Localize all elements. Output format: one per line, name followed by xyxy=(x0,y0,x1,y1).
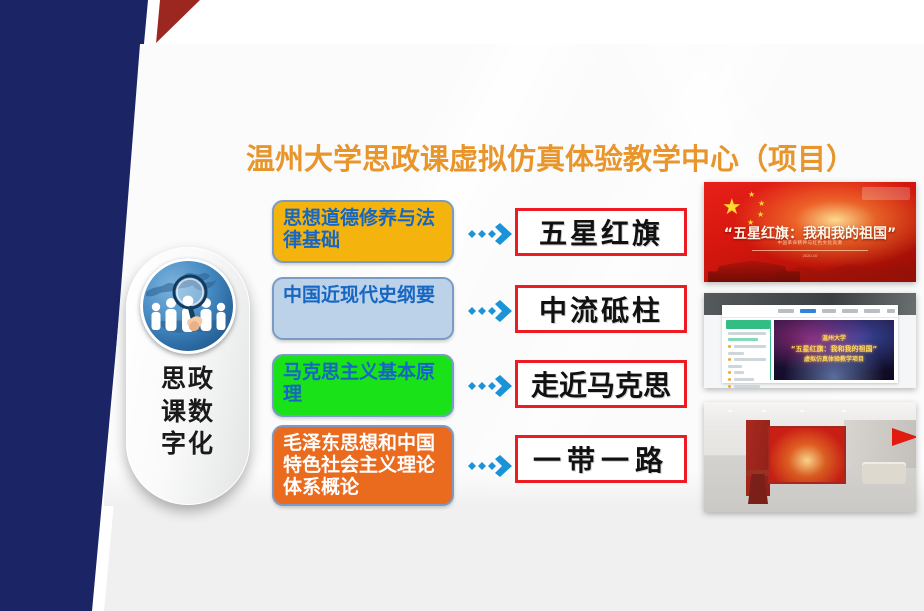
screenshot-nav-item-2 xyxy=(800,309,816,313)
flag-star-big-icon: ★ xyxy=(722,196,742,218)
screenshot-nav-item-4 xyxy=(842,309,858,313)
top-white-strip xyxy=(140,0,924,44)
dashed-arrow-icon-4 xyxy=(466,453,522,479)
flag-star-small-icon-2: ★ xyxy=(758,200,765,208)
badge-label-line-2: 课数 xyxy=(126,396,250,429)
badge-label-line-3: 字化 xyxy=(126,428,250,461)
online-platform-screenshot-thumbnail[interactable]: 温州大学 “五星红旗：我和我的祖国” 虚拟仿真体验教学项目 xyxy=(704,293,916,388)
course-box-2[interactable]: 中国近现代史纲要 xyxy=(272,277,454,340)
slide-canvas: 温州大学思政课虚拟仿真体验教学中心（项目） xyxy=(0,0,924,611)
dashed-arrow-icon-2 xyxy=(466,298,522,324)
outcome-box-3[interactable]: 走近马克思 xyxy=(515,360,687,408)
red-flag-banner-thumbnail[interactable]: ★ ★ ★ ★ ★ “五星红旗：我和我的祖国” 中国革命精神与红色文化资源 20… xyxy=(704,182,916,282)
screenshot-sidebar-row-1 xyxy=(728,332,766,335)
screenshot-sidebar-row-6 xyxy=(728,365,742,368)
page-title: 温州大学思政课虚拟仿真体验教学中心（项目） xyxy=(246,136,855,178)
white-sofa xyxy=(862,462,906,484)
banner-subline: 中国革命精神与红色文化资源 xyxy=(704,240,916,246)
screenshot-nav-item-3 xyxy=(822,309,836,313)
stage-line-1: 温州大学 xyxy=(774,333,894,342)
course-box-3[interactable]: 马克思主义基本原理 xyxy=(272,354,454,417)
screenshot-nav-item-1 xyxy=(778,309,794,313)
ceiling-light-1 xyxy=(728,410,732,412)
screenshot-sidebar-row-8 xyxy=(734,378,754,381)
dashed-arrow-icon-3 xyxy=(466,373,522,399)
banner-divider xyxy=(752,250,868,251)
screenshot-sidebar-row-5 xyxy=(734,358,766,361)
ceiling-light-4 xyxy=(842,410,846,412)
outcome-box-1[interactable]: 五星红旗 xyxy=(515,208,687,256)
screenshot-sidebar-row-9 xyxy=(734,385,760,388)
screenshot-sidebar-row-3 xyxy=(734,345,766,348)
screenshot-sidebar-dot-4 xyxy=(728,378,731,381)
ceiling-light-3 xyxy=(800,410,804,412)
outcome-box-2[interactable]: 中流砥柱 xyxy=(515,285,687,333)
ceiling-light-2 xyxy=(762,410,766,412)
flag-star-small-icon-1: ★ xyxy=(748,191,755,199)
globe-people-magnifier-icon xyxy=(140,258,236,354)
university-logo xyxy=(862,187,910,200)
led-display-screen xyxy=(770,428,844,482)
screenshot-sidebar-dot-3 xyxy=(728,371,731,374)
screenshot-video-stage: 温州大学 “五星红旗：我和我的祖国” 虚拟仿真体验教学项目 xyxy=(774,320,894,380)
outcome-box-4[interactable]: 一带一路 xyxy=(515,435,687,483)
screenshot-sidebar-dot-5 xyxy=(728,385,731,388)
screenshot-sidebar-row-7 xyxy=(734,371,744,374)
stage-line-3: 虚拟仿真体验教学项目 xyxy=(774,354,894,363)
exhibition-room-photo-thumbnail[interactable] xyxy=(704,402,916,512)
screenshot-sidebar-header xyxy=(726,320,770,329)
course-box-1[interactable]: 思想道德修养与法律基础 xyxy=(272,200,454,263)
dashed-arrow-icon-1 xyxy=(466,221,522,247)
screenshot-nav-item-5 xyxy=(864,309,880,313)
red-arrow-marker-icon xyxy=(892,428,916,446)
screenshot-navbar xyxy=(722,305,898,318)
screenshot-sidebar-dot-2 xyxy=(728,358,731,361)
course-box-4[interactable]: 毛泽东思想和中国特色社会主义理论体系概论 xyxy=(272,425,454,506)
screenshot-sidebar-row-2 xyxy=(728,338,758,341)
screenshot-sidebar-dot-1 xyxy=(728,345,731,348)
screenshot-browser-card: 温州大学 “五星红旗：我和我的祖国” 虚拟仿真体验教学项目 xyxy=(722,305,898,383)
banner-date: 2020-10 xyxy=(704,253,916,258)
stage-line-2: “五星红旗：我和我的祖国” xyxy=(774,344,894,354)
screenshot-sidebar-row-4 xyxy=(728,352,744,355)
badge-label-line-1: 思政 xyxy=(126,363,250,396)
flag-star-small-icon-3: ★ xyxy=(757,211,764,219)
screenshot-nav-item-6 xyxy=(887,309,895,313)
digital-courses-badge: 思政 课数 字化 xyxy=(126,247,250,505)
screenshot-sidebar xyxy=(726,320,771,380)
badge-label: 思政 课数 字化 xyxy=(126,363,250,461)
